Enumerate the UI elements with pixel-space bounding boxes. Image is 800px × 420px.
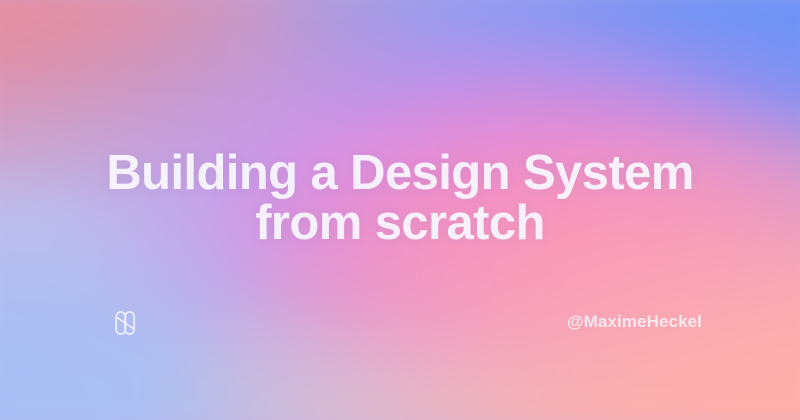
cover-card: Building a Design System from scratch @M… [0,0,800,420]
author-handle: @MaximeHeckel [567,312,702,332]
title-line-2: from scratch [40,198,760,248]
maxime-m-monogram-glyph [106,303,146,343]
maxime-m-monogram-icon [106,303,146,343]
page-title: Building a Design System from scratch [0,148,800,248]
title-line-1: Building a Design System [40,148,760,198]
